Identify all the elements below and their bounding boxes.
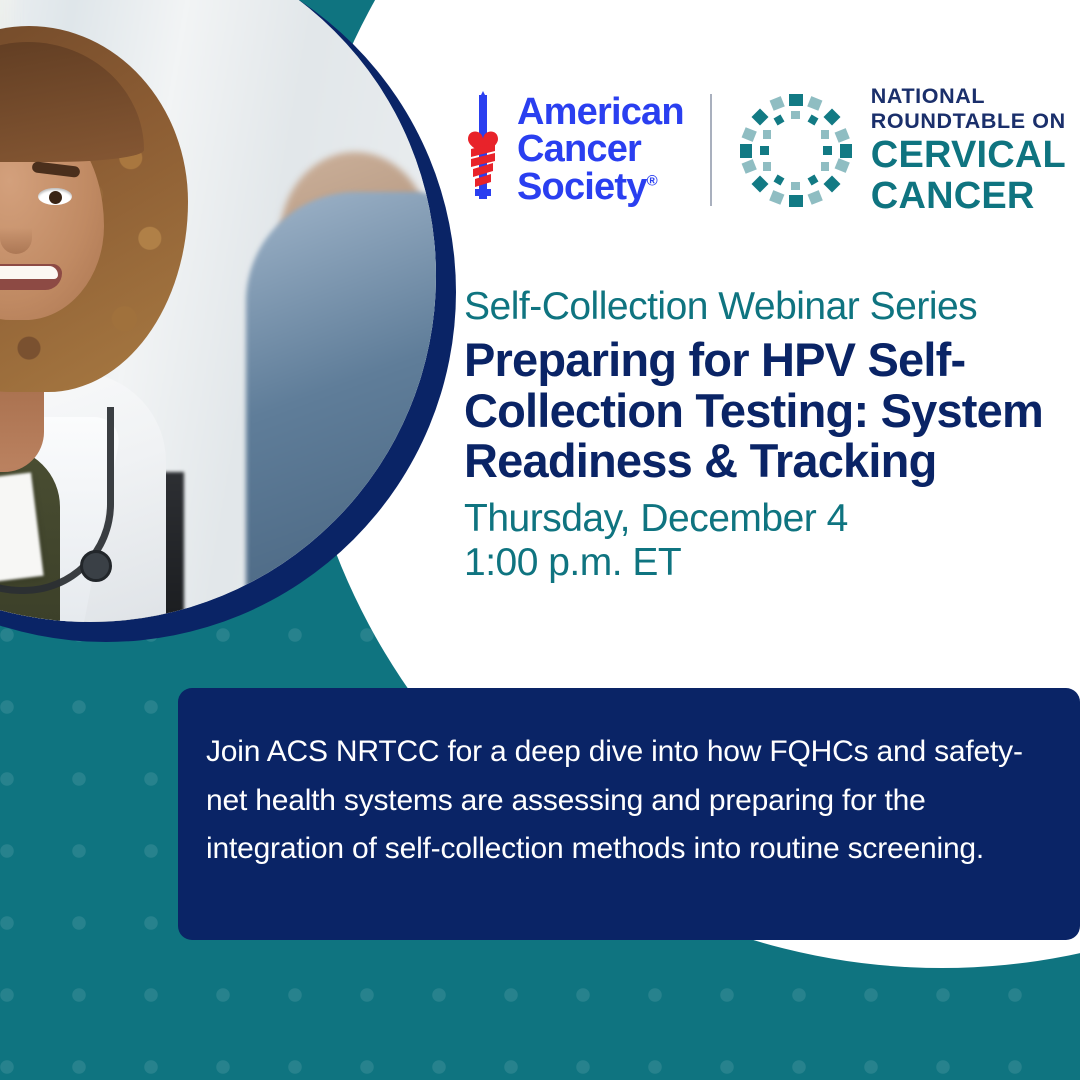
event-time: 1:00 p.m. ET bbox=[464, 541, 1064, 585]
nrtcc-line-3: CERVICAL bbox=[871, 136, 1066, 175]
page-title: Preparing for HPV Self-Collection Testin… bbox=[464, 335, 1064, 487]
nrtcc-line-4: CANCER bbox=[871, 177, 1066, 216]
event-date: Thursday, December 4 bbox=[464, 497, 1064, 541]
logo-lockup: American Cancer Society® bbox=[462, 84, 1066, 216]
headline-block: Self-Collection Webinar Series Preparing… bbox=[464, 286, 1064, 585]
acs-line-3: Society bbox=[517, 166, 647, 208]
webinar-promo-poster: American Cancer Society® bbox=[0, 0, 1080, 1080]
american-cancer-society-logo: American Cancer Society® bbox=[462, 91, 684, 209]
acs-line-1: American bbox=[517, 94, 684, 132]
nrtcc-line-1: NATIONAL bbox=[871, 84, 1066, 109]
nrtcc-logo: NATIONAL ROUNDTABLE ON CERVICAL CANCER bbox=[738, 84, 1066, 216]
acs-line-2: Cancer bbox=[517, 131, 684, 169]
dotted-ring-icon bbox=[738, 92, 854, 208]
logo-divider bbox=[710, 94, 712, 206]
registered-mark: ® bbox=[647, 172, 657, 189]
sword-serpent-icon bbox=[462, 91, 504, 209]
clinician-photo bbox=[0, 0, 436, 622]
nrtcc-wordmark: NATIONAL ROUNDTABLE ON CERVICAL CANCER bbox=[871, 84, 1066, 216]
description-panel: Join ACS NRTCC for a deep dive into how … bbox=[178, 688, 1080, 940]
nrtcc-line-2: ROUNDTABLE ON bbox=[871, 109, 1066, 134]
description-text: Join ACS NRTCC for a deep dive into how … bbox=[206, 728, 1034, 874]
series-eyebrow: Self-Collection Webinar Series bbox=[464, 286, 1064, 329]
acs-wordmark: American Cancer Society® bbox=[517, 94, 684, 207]
